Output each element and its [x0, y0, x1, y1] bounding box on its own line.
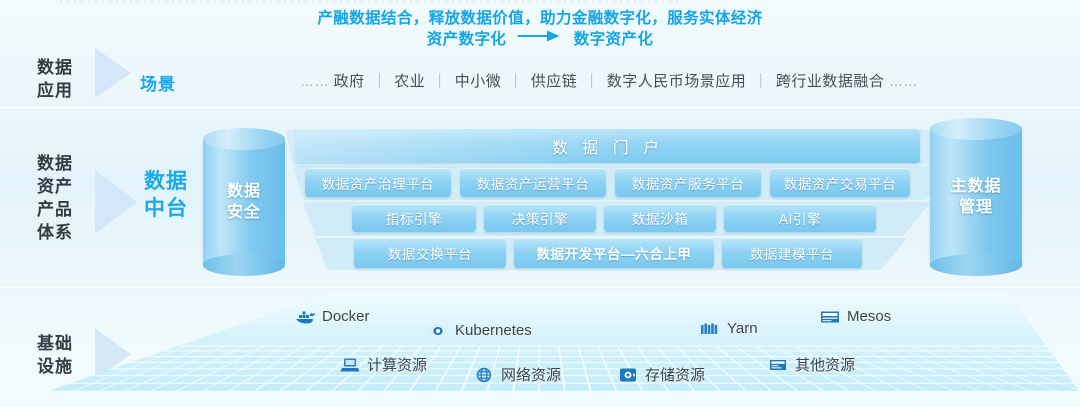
row-arrow-assets [95, 170, 137, 234]
cylinder-data-security[interactable]: 数据 安全 [203, 128, 285, 276]
data-portal-label: 数 据 门 户 [296, 129, 920, 163]
scene-sep-0: ｜ [372, 73, 388, 90]
chip-metric-engine[interactable]: 指标引擎 [352, 204, 476, 232]
cylinder-master-data-management[interactable]: 主数据 管理 [930, 118, 1022, 276]
chip-label: 数据资产服务平台 [632, 173, 745, 193]
network-icon [474, 367, 494, 383]
infrastructure-floor: Docker Kubernetes [0, 292, 1080, 392]
data-middle-platform-label: 数据 中台 [136, 168, 196, 222]
diagram-canvas: 产融数据结合，释放数据价值，助力金融数字化，服务实体经济 资产数字化 数字资产化… [0, 0, 1080, 407]
scene-item-2[interactable]: 中小微 [455, 73, 502, 90]
docker-icon [295, 309, 315, 325]
chip-data-sandbox[interactable]: 数据沙箱 [604, 204, 716, 232]
headline-line-2-left: 资产数字化 [427, 31, 507, 48]
row-label-application-l2: 应用 [22, 79, 88, 102]
chip-label: 数据交换平台 [388, 243, 473, 263]
headline-line-1: 产融数据结合，释放数据价值，助力金融数字化，服务实体经济 [317, 10, 762, 27]
chip-data-asset-service[interactable]: 数据资产服务平台 [615, 168, 761, 197]
storage-icon [618, 367, 638, 383]
scene-sep-3: ｜ [584, 73, 600, 90]
scene-sep-1: ｜ [432, 73, 448, 90]
scene-lead-dots: …… [300, 73, 329, 89]
divider-line-lower [0, 287, 1080, 288]
scene-item-5[interactable]: 跨行业数据融合 [776, 73, 885, 90]
infra-label: 网络资源 [501, 364, 561, 385]
infra-item-yarn[interactable]: Yarn [700, 320, 758, 337]
kubernetes-icon [428, 323, 448, 339]
row-label-application-l1: 数据 [22, 56, 88, 79]
infra-item-docker[interactable]: Docker [295, 308, 370, 325]
yarn-icon [700, 321, 720, 337]
chip-label: 数据资产治理平台 [322, 173, 435, 193]
scene-item-0[interactable]: 政府 [334, 73, 365, 90]
scene-item-1[interactable]: 农业 [394, 73, 425, 90]
headline-line-2-right: 数字资产化 [574, 31, 654, 48]
cylinder-master-data-l2: 管理 [930, 197, 1022, 218]
infra-item-network-resource[interactable]: 网络资源 [474, 364, 561, 385]
headline: 产融数据结合，释放数据价值，助力金融数字化，服务实体经济 资产数字化 数字资产化 [0, 8, 1080, 50]
cylinder-top [203, 128, 285, 150]
chip-data-development-platform[interactable]: 数据开发平台—六合上甲 [514, 238, 714, 268]
cylinder-master-data-l1: 主数据 [930, 176, 1022, 197]
chip-decision-engine[interactable]: 决策引擎 [484, 204, 596, 232]
scene-sep-4: ｜ [753, 73, 769, 90]
other-resource-icon [768, 357, 788, 373]
scene-title: 场景 [140, 70, 176, 95]
chip-label: 数据资产交易平台 [784, 173, 897, 193]
cylinder-top [930, 118, 1022, 140]
infra-label: Kubernetes [455, 322, 532, 339]
chip-ai-engine[interactable]: AI引擎 [724, 204, 876, 232]
arrow-right-icon [517, 30, 563, 42]
chip-data-modeling-platform[interactable]: 数据建模平台 [722, 238, 862, 268]
cylinder-master-data-label: 主数据 管理 [930, 176, 1022, 218]
row-label-assets-l2: 资产 [22, 175, 88, 198]
headline-line-2: 资产数字化 数字资产化 [0, 29, 1080, 50]
infra-item-storage-resource[interactable]: 存储资源 [618, 364, 705, 385]
divider-line-upper [0, 107, 1080, 108]
infra-label: Yarn [727, 320, 758, 337]
cylinder-data-security-l2: 安全 [203, 202, 285, 223]
chip-data-exchange-platform[interactable]: 数据交换平台 [354, 238, 506, 268]
chip-label: 指标引擎 [386, 208, 442, 228]
data-middle-platform-label-l2: 中台 [136, 195, 196, 222]
scene-item-3[interactable]: 供应链 [531, 73, 578, 90]
data-portal-slab[interactable]: 数 据 门 户 [296, 129, 920, 163]
infra-item-compute-resource[interactable]: 计算资源 [340, 354, 427, 375]
cylinder-data-security-label: 数据 安全 [203, 181, 285, 223]
infra-label: 存储资源 [645, 364, 705, 385]
chip-data-asset-governance[interactable]: 数据资产治理平台 [305, 168, 451, 197]
infra-label: 计算资源 [367, 354, 427, 375]
chip-label: 数据沙箱 [632, 208, 688, 228]
infra-label: 其他资源 [795, 354, 855, 375]
cylinder-data-security-l1: 数据 [203, 181, 285, 202]
chip-data-asset-trading[interactable]: 数据资产交易平台 [770, 168, 910, 197]
row-label-assets-l4: 体系 [22, 221, 88, 244]
chip-label: 数据建模平台 [750, 243, 835, 263]
row-arrow-application [95, 48, 131, 98]
cylinder-bottom [930, 254, 1022, 276]
row-label-assets-l3: 产品 [22, 198, 88, 221]
chip-label: 数据资产运营平台 [477, 173, 590, 193]
scene-trail-dots: …… [889, 73, 918, 89]
infra-label: Docker [322, 308, 370, 325]
infra-label: Mesos [847, 308, 891, 325]
data-middle-platform-label-l1: 数据 [136, 168, 196, 195]
scene-item-list: …… 政府｜农业｜中小微｜供应链｜数字人民币场景应用｜跨行业数据融合 …… [300, 70, 918, 91]
row-label-application: 数据 应用 [22, 56, 88, 102]
mesos-icon [820, 309, 840, 325]
chip-label: AI引擎 [779, 208, 821, 228]
chip-label: 决策引擎 [512, 208, 568, 228]
scene-sep-2: ｜ [508, 73, 524, 90]
infra-item-mesos[interactable]: Mesos [820, 308, 891, 325]
scene-item-4[interactable]: 数字人民币场景应用 [607, 73, 747, 90]
row-label-assets: 数据 资产 产品 体系 [22, 152, 88, 244]
top-dotted-artifact [60, 0, 680, 3]
cylinder-bottom [203, 254, 285, 276]
chip-data-asset-operations[interactable]: 数据资产运营平台 [460, 168, 606, 197]
compute-icon [340, 357, 360, 373]
row-label-assets-l1: 数据 [22, 152, 88, 175]
infra-item-other-resource[interactable]: 其他资源 [768, 354, 855, 375]
infra-item-kubernetes[interactable]: Kubernetes [428, 322, 532, 339]
chip-label: 数据开发平台—六合上甲 [536, 243, 691, 263]
